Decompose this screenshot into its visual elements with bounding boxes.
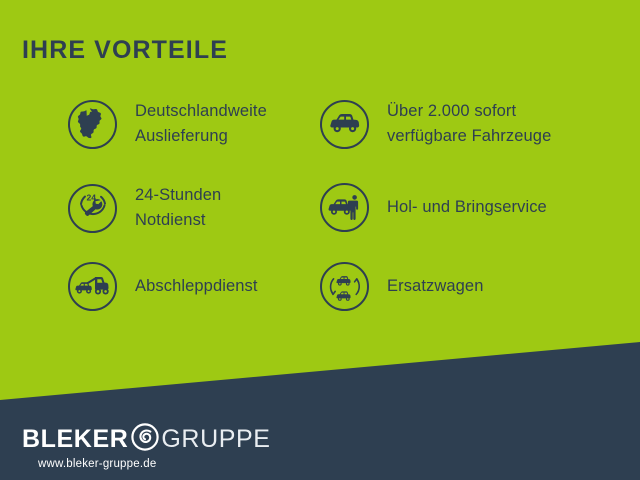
logo-text-bleker: BLEKER bbox=[22, 427, 128, 452]
benefit-label: Abschleppdienst bbox=[135, 274, 258, 299]
two-cars-exchange-icon bbox=[320, 262, 369, 311]
benefit-label: Ersatzwagen bbox=[387, 274, 483, 299]
benefit-label: 24-Stunden Notdienst bbox=[135, 183, 221, 233]
benefit-item-verfuegbare-fahrzeuge: Über 2.000 sofort verfügbare Fahrzeuge bbox=[320, 99, 551, 149]
clock-wrench-24-icon: 24 bbox=[68, 184, 117, 233]
slide-canvas: IHRE VORTEILE Deutschlandweite Ausliefer… bbox=[0, 0, 640, 480]
benefit-item-abschleppdienst: Abschleppdienst bbox=[68, 262, 258, 311]
page-title: IHRE VORTEILE bbox=[22, 38, 228, 63]
car-with-person-icon bbox=[320, 183, 369, 232]
benefit-label: Deutschlandweite Auslieferung bbox=[135, 99, 267, 149]
tow-truck-icon bbox=[68, 262, 117, 311]
benefit-item-hol-und-bringservice: Hol- und Bringservice bbox=[320, 183, 547, 232]
benefit-item-deutschlandweite-auslieferung: Deutschlandweite Auslieferung bbox=[68, 99, 267, 149]
logo-text-gruppe: GRUPPE bbox=[161, 427, 270, 452]
logo-website-url: www.bleker-gruppe.de bbox=[38, 458, 322, 470]
car-icon bbox=[320, 100, 369, 149]
footer-logo-block: BLEKER GRUPPE www.bleker-gruppe.de bbox=[22, 424, 322, 470]
spiral-circle-monogram-icon bbox=[130, 422, 160, 457]
benefit-label: Hol- und Bringservice bbox=[387, 195, 547, 220]
benefit-item-24-stunden-notdienst: 24 24-Stunden Notdienst bbox=[68, 183, 221, 233]
benefit-item-ersatzwagen: Ersatzwagen bbox=[320, 262, 483, 311]
logo-wordmark: BLEKER GRUPPE bbox=[22, 424, 322, 454]
benefit-label: Über 2.000 sofort verfügbare Fahrzeuge bbox=[387, 99, 551, 149]
germany-map-icon bbox=[68, 100, 117, 149]
